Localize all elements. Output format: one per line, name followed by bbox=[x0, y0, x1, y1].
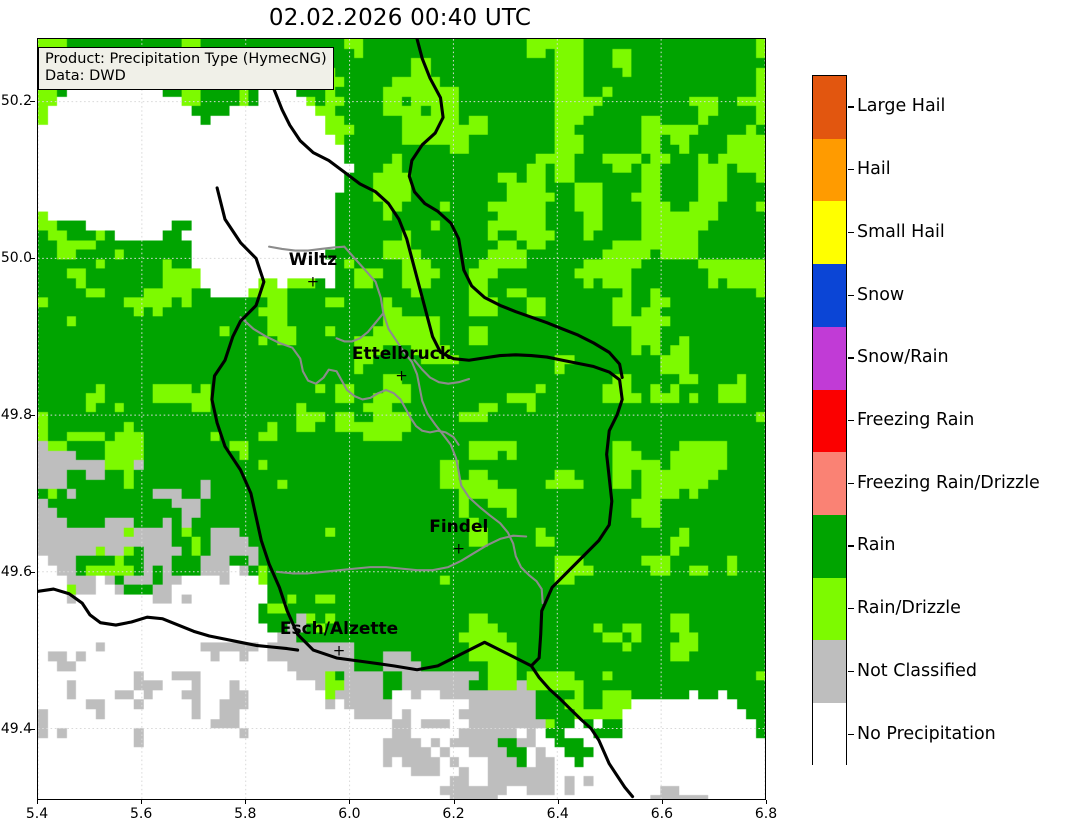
radar-precipitation-raster bbox=[38, 39, 765, 799]
city-marker-esch-alzette: + bbox=[333, 643, 346, 658]
colorbar-segment-not-classified[interactable] bbox=[813, 640, 846, 703]
colorbar-label-no-precipitation: No Precipitation bbox=[857, 724, 996, 744]
x-axis-tick bbox=[37, 800, 38, 804]
colorbar-tick bbox=[848, 420, 854, 421]
y-axis-label: 49.4 bbox=[1, 721, 32, 737]
colorbar-label-freezing-rain: Freezing Rain bbox=[857, 410, 974, 430]
x-axis-tick bbox=[662, 800, 663, 804]
colorbar-segment-snow[interactable] bbox=[813, 264, 846, 327]
colorbar-tick bbox=[848, 608, 854, 609]
city-marker-ettelbruck: + bbox=[395, 368, 408, 383]
x-axis-tick bbox=[558, 800, 559, 804]
colorbar-segment-freezing-rain-drizzle[interactable] bbox=[813, 452, 846, 515]
colorbar-label-snow-rain: Snow/Rain bbox=[857, 347, 949, 367]
colorbar-tick bbox=[848, 169, 854, 170]
colorbar-label-rain-drizzle: Rain/Drizzle bbox=[857, 598, 961, 618]
precipitation-type-map-figure: 02.02.2026 00:40 UTC Product: Precipitat… bbox=[0, 0, 1072, 828]
colorbar-tick bbox=[848, 671, 854, 672]
colorbar-segment-rain[interactable] bbox=[813, 515, 846, 578]
map-plot-area[interactable] bbox=[37, 38, 766, 800]
x-axis-label: 5.6 bbox=[130, 806, 152, 822]
x-axis-tick bbox=[349, 800, 350, 804]
colorbar-tick bbox=[848, 295, 854, 296]
x-axis-label: 6.0 bbox=[338, 806, 360, 822]
colorbar-tick bbox=[848, 232, 854, 233]
colorbar-tick bbox=[848, 734, 854, 735]
y-axis-label: 49.6 bbox=[1, 564, 32, 580]
colorbar-segment-hail[interactable] bbox=[813, 139, 846, 202]
product-info-box: Product: Precipitation Type (HymecNG) Da… bbox=[38, 47, 334, 90]
colorbar-segment-rain-drizzle[interactable] bbox=[813, 578, 846, 641]
y-axis-label: 50.0 bbox=[1, 250, 32, 266]
x-axis-tick bbox=[454, 800, 455, 804]
x-axis-label: 6.2 bbox=[442, 806, 464, 822]
city-label-esch-alzette: Esch/Alzette bbox=[280, 619, 398, 639]
info-data-line: Data: DWD bbox=[45, 68, 327, 85]
x-axis-label: 6.8 bbox=[755, 806, 777, 822]
colorbar-tick bbox=[848, 106, 854, 107]
colorbar-label-not-classified: Not Classified bbox=[857, 661, 977, 681]
x-axis-label: 6.4 bbox=[547, 806, 569, 822]
x-axis-label: 5.8 bbox=[234, 806, 256, 822]
colorbar-label-hail: Hail bbox=[857, 159, 891, 179]
colorbar-label-small-hail: Small Hail bbox=[857, 222, 945, 242]
city-marker-findel: + bbox=[452, 541, 465, 556]
colorbar-label-freezing-rain-drizzle: Freezing Rain/Drizzle bbox=[857, 473, 1040, 493]
y-axis-label: 49.8 bbox=[1, 407, 32, 423]
colorbar-segment-no-precipitation[interactable] bbox=[813, 703, 846, 766]
colorbar-segment-snow-rain[interactable] bbox=[813, 327, 846, 390]
colorbar-label-large-hail: Large Hail bbox=[857, 96, 945, 116]
colorbar-tick bbox=[848, 357, 854, 358]
colorbar-tick bbox=[848, 483, 854, 484]
colorbar-segment-freezing-rain[interactable] bbox=[813, 390, 846, 453]
y-axis-label: 50.2 bbox=[1, 93, 32, 109]
figure-title: 02.02.2026 00:40 UTC bbox=[0, 4, 800, 32]
x-axis-label: 5.4 bbox=[26, 806, 48, 822]
x-axis-label: 6.6 bbox=[651, 806, 673, 822]
colorbar-tick bbox=[848, 545, 854, 546]
x-axis-tick bbox=[141, 800, 142, 804]
colorbar-segment-small-hail[interactable] bbox=[813, 201, 846, 264]
x-axis-tick bbox=[766, 800, 767, 804]
city-label-findel: Findel bbox=[429, 517, 488, 537]
city-marker-wiltz: + bbox=[307, 274, 320, 289]
colorbar[interactable] bbox=[812, 75, 847, 765]
colorbar-label-snow: Snow bbox=[857, 285, 904, 305]
city-label-wiltz: Wiltz bbox=[289, 250, 337, 270]
colorbar-label-rain: Rain bbox=[857, 535, 895, 555]
city-label-ettelbruck: Ettelbruck bbox=[352, 344, 451, 364]
info-product-line: Product: Precipitation Type (HymecNG) bbox=[45, 51, 327, 68]
x-axis-tick bbox=[245, 800, 246, 804]
colorbar-segment-large-hail[interactable] bbox=[813, 76, 846, 139]
